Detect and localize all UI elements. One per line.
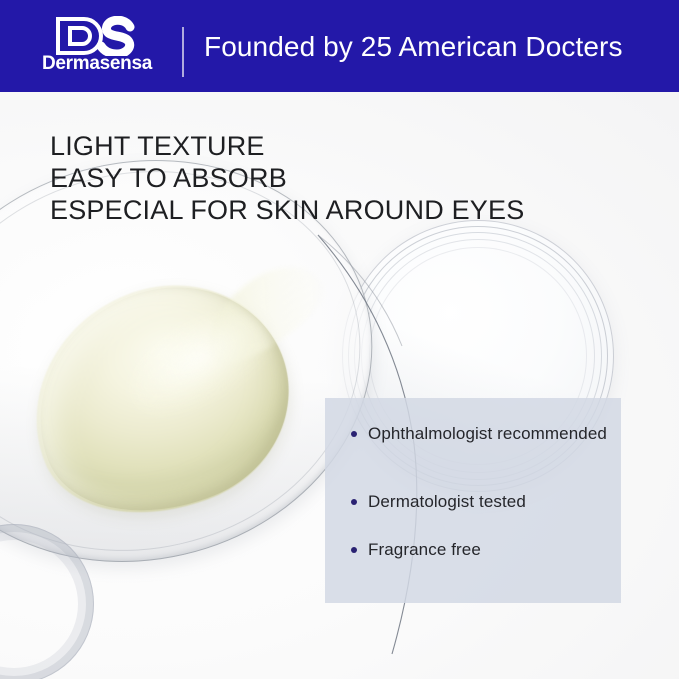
- benefit-item: Fragrance free: [351, 538, 607, 561]
- brand-header-bar: Dermasensa Founded by 25 American Docter…: [0, 0, 679, 92]
- product-infographic: Dermasensa Founded by 25 American Docter…: [0, 0, 679, 679]
- headline-line-3: ESPECIAL FOR SKIN AROUND EYES: [50, 194, 524, 226]
- benefits-panel: Ophthalmologist recommended Dermatologis…: [325, 398, 621, 603]
- headline-line-2: EASY TO ABSORB: [50, 162, 524, 194]
- benefit-item: Dermatologist tested: [351, 490, 607, 513]
- header-tagline: Founded by 25 American Docters: [204, 30, 623, 64]
- benefit-item: Ophthalmologist recommended: [351, 422, 607, 445]
- headline-line-1: LIGHT TEXTURE: [50, 130, 524, 162]
- benefit-label: Dermatologist tested: [368, 490, 526, 513]
- benefit-label: Fragrance free: [368, 538, 481, 561]
- bullet-dot-icon: [351, 547, 357, 553]
- brand-logo: Dermasensa: [26, 16, 168, 78]
- bullet-dot-icon: [351, 431, 357, 437]
- bullet-dot-icon: [351, 499, 357, 505]
- benefit-label: Ophthalmologist recommended: [368, 422, 607, 445]
- ds-monogram-icon: [54, 16, 142, 56]
- brand-wordmark: Dermasensa: [26, 53, 168, 75]
- headline-block: LIGHT TEXTURE EASY TO ABSORB ESPECIAL FO…: [50, 130, 524, 226]
- header-divider: [182, 27, 184, 77]
